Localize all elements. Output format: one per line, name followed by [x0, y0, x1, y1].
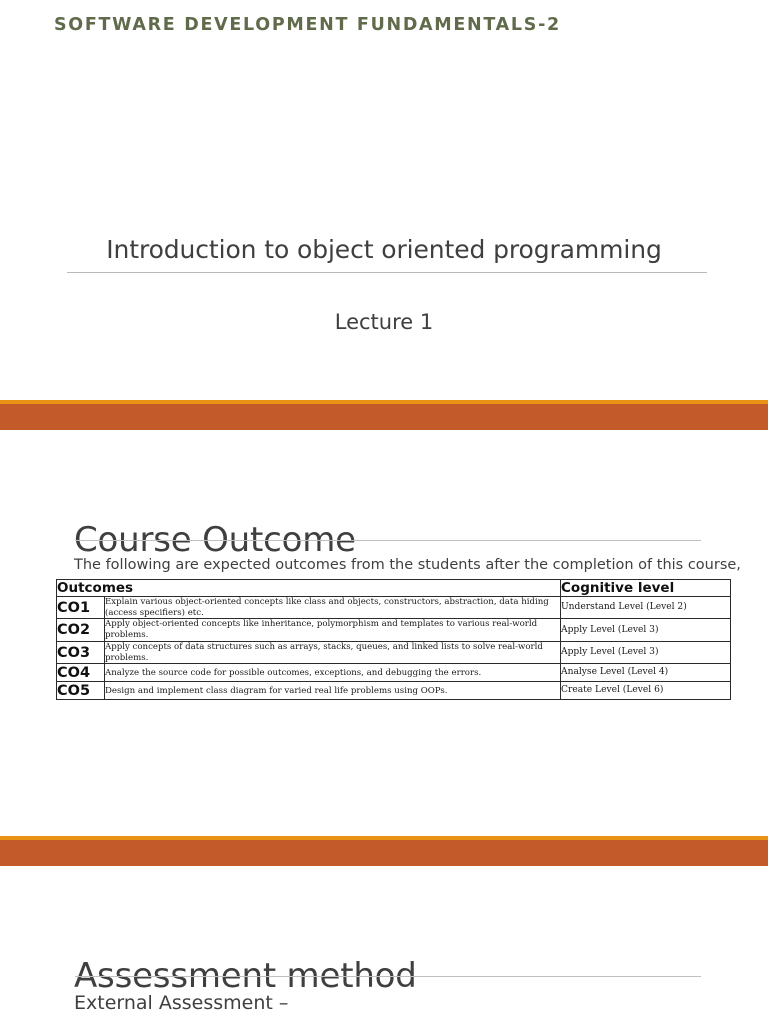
table-row: CO3 Apply concepts of data structures su… — [57, 641, 731, 663]
course-outcome-table: Outcomes Cognitive level CO1 Explain var… — [56, 579, 731, 700]
outcome-level: Apply Level (Level 3) — [561, 619, 731, 641]
outcome-description: Apply concepts of data structures such a… — [105, 641, 561, 663]
table-row: CO2 Apply object-oriented concepts like … — [57, 619, 731, 641]
table-row: CO5 Design and implement class diagram f… — [57, 682, 731, 700]
table-header-row: Outcomes Cognitive level — [57, 580, 731, 597]
table-row: CO4 Analyze the source code for possible… — [57, 664, 731, 682]
column-header-outcomes: Outcomes — [57, 580, 561, 597]
outcome-code: CO5 — [57, 682, 105, 700]
band-main-stripe — [0, 404, 768, 430]
outcome-code: CO2 — [57, 619, 105, 641]
lecture-subtitle: Lecture 1 — [0, 310, 768, 334]
outcome-description: Apply object-oriented concepts like inhe… — [105, 619, 561, 641]
outcome-description: Explain various object-oriented concepts… — [105, 597, 561, 619]
slide-title: SOFTWARE DEVELOPMENT FUNDAMENTALS-2 Intr… — [0, 0, 768, 400]
outcome-level: Create Level (Level 6) — [561, 682, 731, 700]
outcome-description: Design and implement class diagram for v… — [105, 682, 561, 700]
outcome-level: Apply Level (Level 3) — [561, 641, 731, 663]
course-kicker: SOFTWARE DEVELOPMENT FUNDAMENTALS-2 — [54, 15, 561, 35]
outcome-level: Understand Level (Level 2) — [561, 597, 731, 619]
course-outcome-divider — [75, 540, 701, 541]
outcome-code: CO4 — [57, 664, 105, 682]
slide-separator-band-bottom — [0, 836, 768, 866]
slide-assessment-method: Assessment method External Assessment – — [0, 866, 768, 1024]
external-assessment-label: External Assessment – — [74, 992, 288, 1014]
assessment-method-divider — [75, 976, 701, 977]
slide-course-outcome: Course Outcome The following are expecte… — [0, 430, 768, 836]
course-outcome-lead-text: The following are expected outcomes from… — [74, 557, 741, 573]
table-row: CO1 Explain various object-oriented conc… — [57, 597, 731, 619]
column-header-cognitive-level: Cognitive level — [561, 580, 731, 597]
outcome-code: CO1 — [57, 597, 105, 619]
page-title: Introduction to object oriented programm… — [0, 235, 768, 264]
outcome-level: Analyse Level (Level 4) — [561, 664, 731, 682]
band-main-stripe — [0, 840, 768, 866]
outcome-code: CO3 — [57, 641, 105, 663]
title-divider — [67, 272, 707, 273]
slide-separator-band-top — [0, 400, 768, 430]
document-page: SOFTWARE DEVELOPMENT FUNDAMENTALS-2 Intr… — [0, 0, 768, 1024]
outcome-description: Analyze the source code for possible out… — [105, 664, 561, 682]
